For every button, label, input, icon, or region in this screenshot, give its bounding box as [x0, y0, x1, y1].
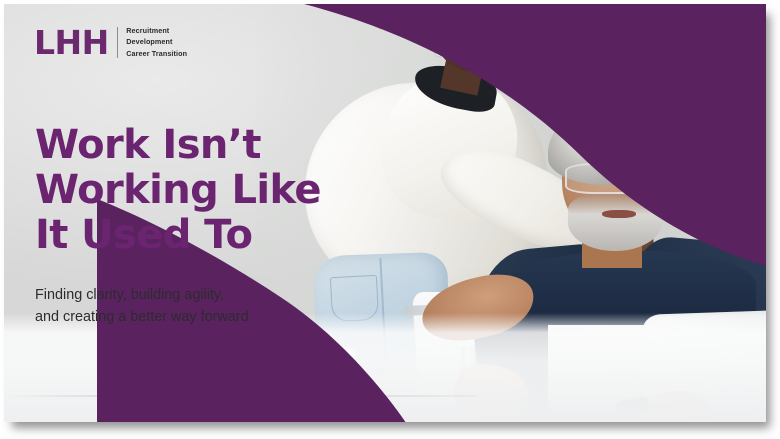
headline-line-2: Working Like [35, 168, 365, 213]
headline-line-1: Work Isn’t [35, 123, 365, 168]
slide-canvas: LHH Recruitment Development Career Trans… [4, 4, 766, 422]
logo-tagline-line-3: Career Transition [126, 49, 187, 59]
subheadline-line-2: and creating a better way forward [35, 307, 335, 328]
logo-tagline-line-2: Development [126, 37, 187, 47]
subheadline-line-1: Finding clarity, building agility, [35, 285, 335, 306]
slide-subheadline: Finding clarity, building agility, and c… [35, 285, 335, 328]
logo-divider-rule [117, 27, 119, 58]
lhh-wordmark: LHH [34, 26, 109, 59]
logo-tagline: Recruitment Development Career Transitio… [126, 26, 187, 59]
logo-tagline-line-1: Recruitment [126, 26, 187, 36]
headline-line-3: It Used To [35, 213, 365, 258]
lhh-logo: LHH Recruitment Development Career Trans… [34, 26, 187, 59]
slide-headline: Work Isn’t Working Like It Used To [35, 123, 365, 259]
swoosh-top-right-icon [304, 4, 766, 266]
